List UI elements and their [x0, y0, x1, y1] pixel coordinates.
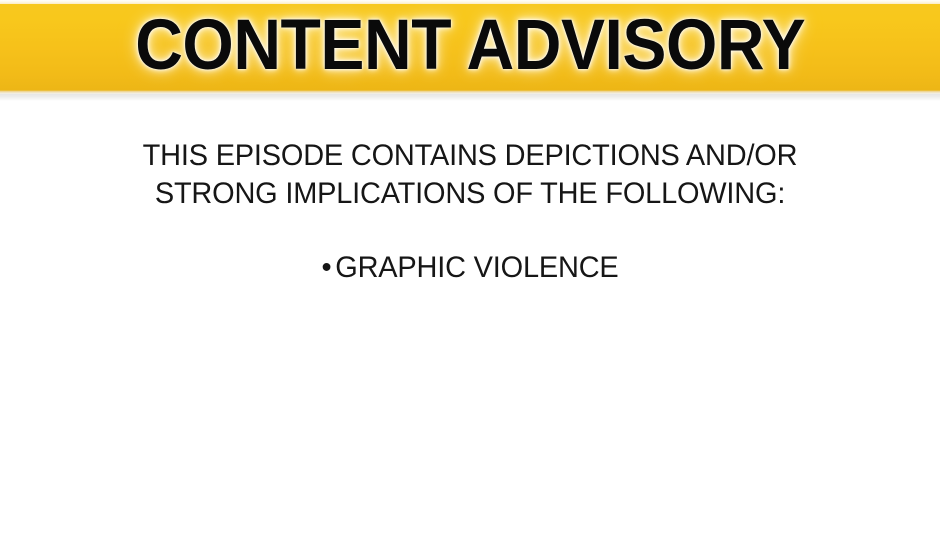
content-advisory-card: CONTENT ADVISORY THIS EPISODE CONTAINS D… — [0, 0, 940, 536]
bullet-point-icon: • — [321, 249, 335, 287]
advisory-item-list: •GRAPHIC VIOLENCE — [0, 249, 940, 287]
list-item-label: GRAPHIC VIOLENCE — [335, 251, 618, 284]
empty-content-region — [0, 306, 940, 536]
banner-drop-shadow — [0, 94, 940, 101]
intro-line-2: STRONG IMPLICATIONS OF THE FOLLOWING: — [16, 175, 923, 213]
advisory-banner: CONTENT ADVISORY — [0, 0, 940, 101]
list-item: •GRAPHIC VIOLENCE — [16, 249, 923, 287]
advisory-intro: THIS EPISODE CONTAINS DEPICTIONS AND/OR … — [0, 137, 940, 213]
advisory-body: THIS EPISODE CONTAINS DEPICTIONS AND/OR … — [0, 101, 940, 536]
intro-line-1: THIS EPISODE CONTAINS DEPICTIONS AND/OR — [16, 137, 923, 175]
page-title: CONTENT ADVISORY — [135, 10, 805, 84]
banner-bar: CONTENT ADVISORY — [0, 4, 940, 90]
